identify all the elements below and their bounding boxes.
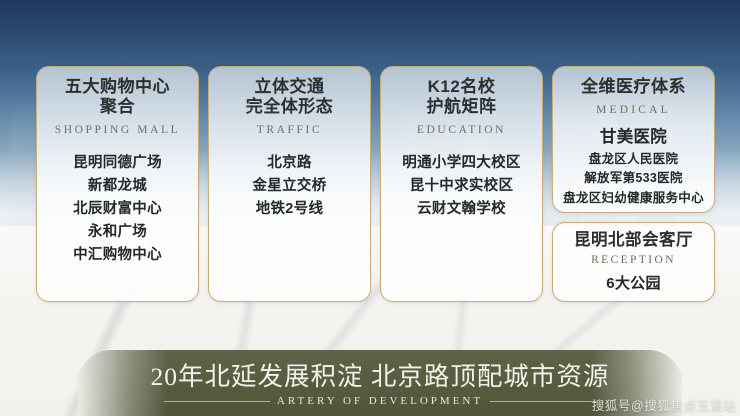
- list-item: 明通小学四大校区: [387, 152, 536, 175]
- list-item: 永和广场: [43, 221, 192, 244]
- card-title-en: SHOPPING MALL: [43, 124, 192, 136]
- card-title-en: MEDICAL: [559, 104, 708, 116]
- banner-rule-left: [164, 401, 270, 402]
- card-reception[interactable]: 昆明北部会客厅 RECEPTION 6大公园: [552, 222, 715, 302]
- card-title-cn: 昆明北部会客厅: [559, 231, 708, 250]
- card-title-cn: 全维医疗体系: [559, 77, 708, 97]
- card-title-en: EDUCATION: [387, 124, 536, 136]
- banner-rule-right: [490, 401, 596, 402]
- list-item: 地铁2号线: [215, 198, 364, 221]
- card-education[interactable]: K12名校 护航矩阵 EDUCATION 明通小学四大校区 昆十中求实校区 云财…: [380, 66, 543, 302]
- list-item: 金星立交桥: [215, 175, 364, 198]
- list-item: 北辰财富中心: [43, 198, 192, 221]
- card-shopping-mall[interactable]: 五大购物中心 聚合 SHOPPING MALL 昆明同德广场 新都龙城 北辰财富…: [36, 66, 199, 302]
- list-item: 盘龙区妇幼健康服务中心: [559, 189, 708, 208]
- list-item: 昆十中求实校区: [387, 175, 536, 198]
- list-item: 新都龙城: [43, 175, 192, 198]
- card-item-list: 甘美医院 盘龙区人民医院 解放军第533医院 盘龙区妇幼健康服务中心: [559, 125, 708, 208]
- list-item: 中汇购物中心: [43, 244, 192, 267]
- card-medical[interactable]: 全维医疗体系 MEDICAL 甘美医院 盘龙区人民医院 解放军第533医院 盘龙…: [552, 66, 715, 213]
- list-item: 昆明同德广场: [43, 152, 192, 175]
- card-item-list: 昆明同德广场 新都龙城 北辰财富中心 永和广场 中汇购物中心: [43, 152, 192, 267]
- watermark: 搜狐号@搜狐焦点玉溪站: [592, 395, 736, 414]
- list-item: 云财文翰学校: [387, 198, 536, 221]
- list-item-lead: 甘美医院: [559, 125, 708, 150]
- card-title-en: TRAFFIC: [215, 124, 364, 136]
- card-item-list: 北京路 金星立交桥 地铁2号线: [215, 152, 364, 221]
- card-item-list: 明通小学四大校区 昆十中求实校区 云财文翰学校: [387, 152, 536, 221]
- card-title-cn: 五大购物中心 聚合: [43, 77, 192, 117]
- banner-subtitle-en: ARTERY OF DEVELOPMENT: [277, 395, 483, 407]
- card-item-list: 6大公园: [559, 272, 708, 296]
- card-title-en: RECEPTION: [559, 254, 708, 266]
- list-item: 6大公园: [559, 272, 708, 296]
- card-title-cn: K12名校 护航矩阵: [387, 77, 536, 117]
- list-item: 北京路: [215, 152, 364, 175]
- slide-canvas: 五大购物中心 聚合 SHOPPING MALL 昆明同德广场 新都龙城 北辰财富…: [0, 0, 740, 416]
- list-item: 盘龙区人民医院: [559, 150, 708, 169]
- list-item: 解放军第533医院: [559, 169, 708, 188]
- banner-headline-cn: 20年北延发展积淀 北京路顶配城市资源: [78, 356, 682, 393]
- card-title-cn: 立体交通 完全体形态: [215, 77, 364, 117]
- card-traffic[interactable]: 立体交通 完全体形态 TRAFFIC 北京路 金星立交桥 地铁2号线: [208, 66, 371, 302]
